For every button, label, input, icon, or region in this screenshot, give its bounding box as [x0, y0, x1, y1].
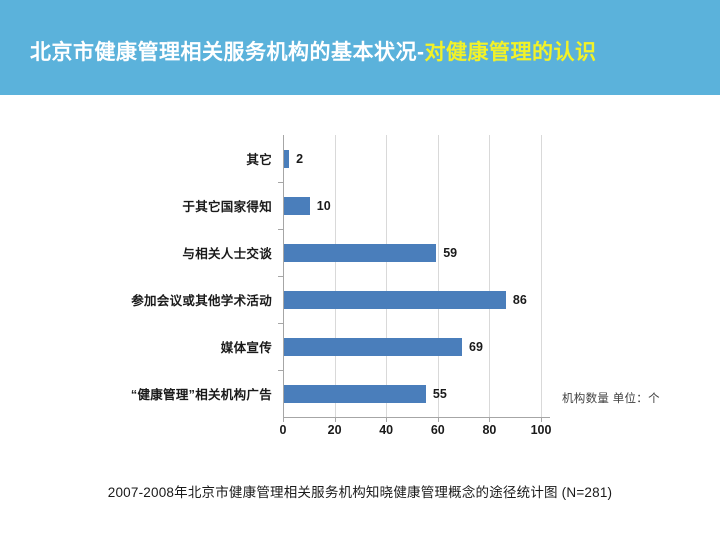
- x-axis-line: [283, 417, 550, 418]
- y-axis-tick: [278, 229, 283, 230]
- figure-caption: 2007-2008年北京市健康管理相关服务机构知晓健康管理概念的途径统计图 (N…: [0, 481, 720, 501]
- bar-row: 59: [284, 229, 541, 276]
- bar-value-label: 86: [513, 293, 527, 307]
- page-title-highlight: 对健康管理的认识: [425, 41, 597, 64]
- x-axis-tick-label: 40: [379, 423, 393, 437]
- x-axis-tick: [438, 417, 439, 422]
- category-label: “健康管理”相关机构广告: [131, 384, 278, 403]
- x-axis-tick-labels: 0 20 40 60 80 100: [283, 423, 553, 443]
- x-axis-tick-label: 20: [328, 423, 342, 437]
- category-label-row: 参加会议或其他学术活动: [20, 276, 278, 323]
- x-axis-tick: [335, 417, 336, 422]
- category-label: 与相关人士交谈: [182, 243, 278, 262]
- y-axis-tick: [278, 370, 283, 371]
- category-label-row: 与相关人士交谈: [20, 229, 278, 276]
- category-label: 参加会议或其他学术活动: [131, 290, 278, 309]
- x-axis-tick-label: 80: [482, 423, 496, 437]
- bar-value-label: 59: [443, 246, 457, 260]
- bar-value-label: 69: [469, 340, 483, 354]
- x-axis-tick-label: 0: [280, 423, 287, 437]
- bar[interactable]: [284, 150, 289, 168]
- bar-value-label: 2: [296, 152, 303, 166]
- x-axis-tick: [541, 417, 542, 422]
- category-label: 媒体宣传: [221, 337, 278, 356]
- category-label-row: 其它: [20, 135, 278, 182]
- y-axis-tick: [278, 276, 283, 277]
- page-title-separator: -: [417, 41, 425, 64]
- page-title-main: 北京市健康管理相关服务机构的基本状况: [30, 41, 417, 64]
- plot-area: 2 10 59 86 69 55: [283, 135, 541, 417]
- bar-value-label: 10: [317, 199, 331, 213]
- bar[interactable]: [284, 244, 436, 262]
- x-axis-unit-note: 机构数量 单位：个: [562, 390, 660, 406]
- x-axis-tick: [283, 417, 284, 422]
- category-label-row: “健康管理”相关机构广告: [20, 370, 278, 417]
- category-label: 于其它国家得知: [182, 196, 278, 215]
- x-axis-tick-label: 60: [431, 423, 445, 437]
- gridline: [541, 135, 542, 417]
- bar[interactable]: [284, 385, 426, 403]
- category-label: 其它: [246, 149, 278, 168]
- bar[interactable]: [284, 197, 310, 215]
- category-axis-labels: 其它 于其它国家得知 与相关人士交谈 参加会议或其他学术活动 媒体宣传 “健康管…: [20, 135, 278, 417]
- category-label-row: 媒体宣传: [20, 323, 278, 370]
- bar-value-label: 55: [433, 387, 447, 401]
- y-axis-tick: [278, 323, 283, 324]
- x-axis-tick: [489, 417, 490, 422]
- bar-row: 69: [284, 323, 541, 370]
- x-axis-tick-label: 100: [531, 423, 552, 437]
- bar-row: 55: [284, 370, 541, 417]
- y-axis-tick: [278, 182, 283, 183]
- bar-row: 86: [284, 276, 541, 323]
- bar-row: 10: [284, 182, 541, 229]
- category-label-row: 于其它国家得知: [20, 182, 278, 229]
- bar-row: 2: [284, 135, 541, 182]
- bar[interactable]: [284, 338, 462, 356]
- bar-chart: 其它 于其它国家得知 与相关人士交谈 参加会议或其他学术活动 媒体宣传 “健康管…: [0, 95, 720, 470]
- x-axis-tick: [386, 417, 387, 422]
- bar[interactable]: [284, 291, 506, 309]
- page-title: 北京市健康管理相关服务机构的基本状况-对健康管理的认识: [30, 42, 597, 63]
